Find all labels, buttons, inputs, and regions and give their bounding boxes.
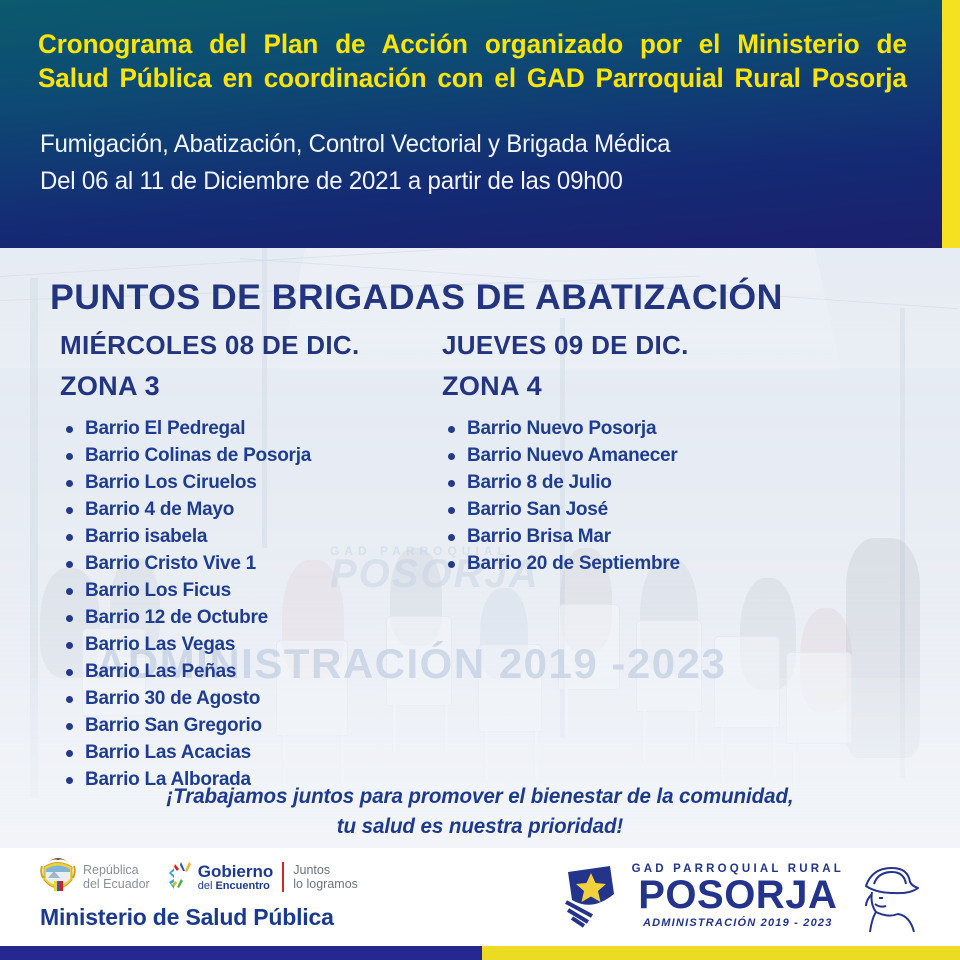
list-item: Barrio El Pedregal bbox=[60, 415, 440, 442]
list-item: Barrio 8 de Julio bbox=[442, 469, 842, 496]
posorja-shield-star-icon bbox=[558, 860, 624, 932]
footer: República del Ecuador bbox=[0, 848, 960, 960]
posorja-name: POSORJA bbox=[632, 876, 844, 915]
barrio-list-zona-3: Barrio El Pedregal Barrio Colinas de Pos… bbox=[60, 415, 440, 793]
list-item: Barrio San Gregorio bbox=[60, 712, 440, 739]
chevrons-icon bbox=[166, 860, 196, 894]
schedule-column-zona-4: JUEVES 09 DE DIC. ZONA 4 Barrio Nuevo Po… bbox=[442, 332, 842, 577]
schedule-content: PUNTOS DE BRIGADAS DE ABATIZACIÓN MIÉRCO… bbox=[0, 0, 960, 960]
list-item: Barrio Los Ficus bbox=[60, 577, 440, 604]
juntos-line-1: Juntos bbox=[293, 863, 358, 877]
list-item: Barrio Las Vegas bbox=[60, 631, 440, 658]
list-item: Barrio isabela bbox=[60, 523, 440, 550]
tagline-line-1: ¡Trabajamos juntos para promover el bien… bbox=[10, 782, 951, 812]
encuentro-label: Encuentro bbox=[215, 880, 269, 892]
list-item: Barrio Las Peñas bbox=[60, 658, 440, 685]
list-item: Barrio Nuevo Amanecer bbox=[442, 442, 842, 469]
poster-root: Cronograma del Plan de Acción organizado… bbox=[0, 0, 960, 960]
government-logo-row: República del Ecuador bbox=[40, 854, 358, 900]
list-item: Barrio 30 de Agosto bbox=[60, 685, 440, 712]
footer-yellow-bar bbox=[482, 946, 960, 960]
posorja-wordmark: GAD PARROQUIAL RURAL POSORJA ADMINISTRAC… bbox=[632, 863, 844, 929]
gobierno-text: Gobierno del Encuentro bbox=[198, 863, 274, 892]
section-title: PUNTOS DE BRIGADAS DE ABATIZACIÓN bbox=[50, 278, 783, 318]
footer-navy-bar bbox=[0, 946, 482, 960]
juntos-lo-logramos-label: Juntos lo logramos bbox=[293, 863, 358, 891]
ministry-name: Ministerio de Salud Pública bbox=[40, 904, 358, 931]
juntos-line-2: lo logramos bbox=[293, 877, 358, 891]
posorja-man-with-hat-icon bbox=[848, 860, 930, 932]
red-divider bbox=[282, 862, 284, 892]
list-item: Barrio 12 de Octubre bbox=[60, 604, 440, 631]
posorja-admin-label: ADMINISTRACIÓN 2019 - 2023 bbox=[632, 917, 844, 929]
republic-label: República del Ecuador bbox=[83, 863, 150, 891]
column-zone-label: ZONA 4 bbox=[442, 371, 850, 402]
list-item: Barrio Los Ciruelos bbox=[60, 469, 440, 496]
del-label: del bbox=[198, 880, 216, 892]
list-item: Barrio Las Acacias bbox=[60, 739, 440, 766]
list-item: Barrio 4 de Mayo bbox=[60, 496, 440, 523]
republic-line-2: del Ecuador bbox=[83, 877, 150, 891]
list-item: Barrio Brisa Mar bbox=[442, 523, 842, 550]
republic-line-1: República bbox=[83, 863, 150, 877]
column-date-label: MIÉRCOLES 08 DE DIC. bbox=[60, 332, 448, 361]
column-zone-label: ZONA 3 bbox=[60, 371, 448, 402]
tagline: ¡Trabajamos juntos para promover el bien… bbox=[0, 782, 960, 842]
list-item: Barrio 20 de Septiembre bbox=[442, 550, 842, 577]
barrio-list-zona-4: Barrio Nuevo Posorja Barrio Nuevo Amanec… bbox=[442, 415, 842, 577]
ecuador-coat-of-arms-icon bbox=[40, 854, 76, 900]
list-item: Barrio San José bbox=[442, 496, 842, 523]
posorja-logo-block: GAD PARROQUIAL RURAL POSORJA ADMINISTRAC… bbox=[558, 860, 930, 932]
del-encuentro-label: del Encuentro bbox=[198, 881, 274, 892]
tagline-line-2: tu salud es nuestra prioridad! bbox=[10, 812, 951, 842]
list-item: Barrio Nuevo Posorja bbox=[442, 415, 842, 442]
schedule-column-zona-3: MIÉRCOLES 08 DE DIC. ZONA 3 Barrio El Pe… bbox=[60, 332, 440, 793]
gobierno-label: Gobierno bbox=[198, 863, 274, 880]
list-item: Barrio Colinas de Posorja bbox=[60, 442, 440, 469]
column-date-label: JUEVES 09 DE DIC. bbox=[442, 332, 850, 361]
list-item: Barrio Cristo Vive 1 bbox=[60, 550, 440, 577]
gobierno-del-encuentro-logo: Gobierno del Encuentro Juntos lo logramo… bbox=[166, 860, 358, 894]
ministry-logo-block: República del Ecuador bbox=[40, 854, 358, 931]
